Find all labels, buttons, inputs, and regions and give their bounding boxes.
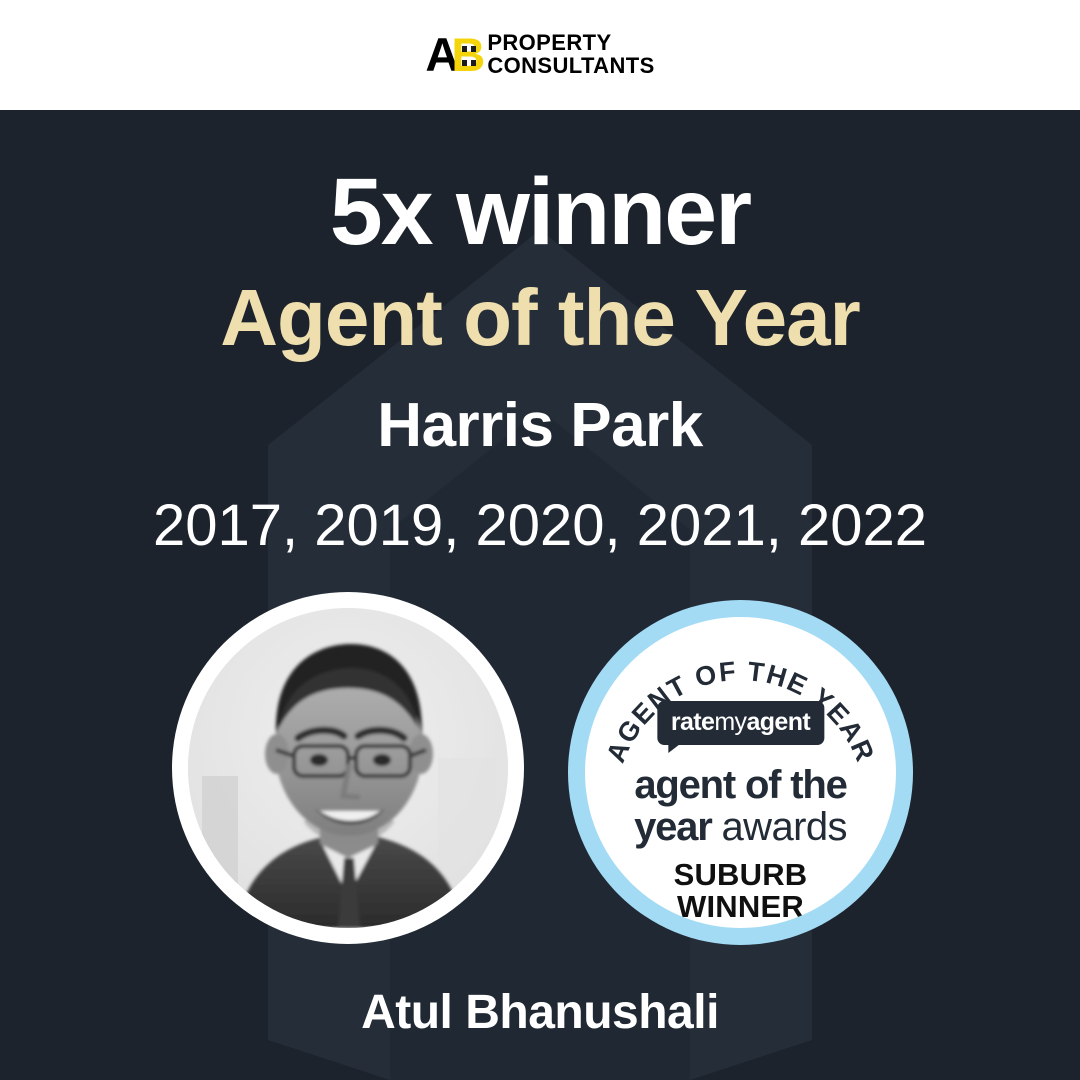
poster-content: 5x winner Agent of the Year Harris Park … <box>0 110 1080 1080</box>
badge-status: SUBURB WINNER <box>585 859 896 923</box>
ab-property-consultants-logo: A B PROPERTY CONSULTANTS <box>425 32 654 77</box>
years-list: 2017, 2019, 2020, 2021, 2022 <box>0 492 1080 559</box>
status-line-2: WINNER <box>585 891 896 923</box>
logo-window-icon <box>462 60 467 66</box>
ratemyagent-award-badge: AGENT OF THE YEAR ratemyagent agent of t… <box>568 600 913 945</box>
badge-face: AGENT OF THE YEAR ratemyagent agent of t… <box>585 617 896 928</box>
logo-letter-b: B <box>451 33 483 77</box>
award-poster: A B PROPERTY CONSULTANTS 5x winner Agent… <box>0 0 1080 1080</box>
brand-name-line1: PROPERTY <box>487 32 654 55</box>
award-title-heading: Agent of the Year <box>0 272 1080 364</box>
brand-wordmark: PROPERTY CONSULTANTS <box>487 32 654 77</box>
rma-rate: rate <box>671 708 714 736</box>
ab-monogram-icon: A B <box>425 33 480 77</box>
agent-photo <box>188 608 508 928</box>
rma-agent: agent <box>746 708 810 736</box>
logo-window-icon <box>471 46 476 52</box>
rma-my: my <box>714 708 746 736</box>
brand-name-line2: CONSULTANTS <box>487 55 654 78</box>
badge-award-title: agent of the year awards <box>585 765 896 847</box>
suburb-heading: Harris Park <box>0 390 1080 461</box>
status-line-1: SUBURB <box>585 859 896 891</box>
logo-window-icon <box>462 46 467 52</box>
brand-header: A B PROPERTY CONSULTANTS <box>0 0 1080 110</box>
logo-window-icon <box>471 60 476 66</box>
agent-name: Atul Bhanushali <box>0 985 1080 1040</box>
ratemyagent-logo: ratemyagent <box>657 701 824 745</box>
award-line-2-bold: year <box>634 805 712 849</box>
award-line-1: agent of the <box>585 765 896 805</box>
award-line-2: year awards <box>585 807 896 847</box>
agent-avatar <box>172 592 524 944</box>
award-line-2-regular: awards <box>722 805 847 849</box>
winner-count-heading: 5x winner <box>0 158 1080 267</box>
